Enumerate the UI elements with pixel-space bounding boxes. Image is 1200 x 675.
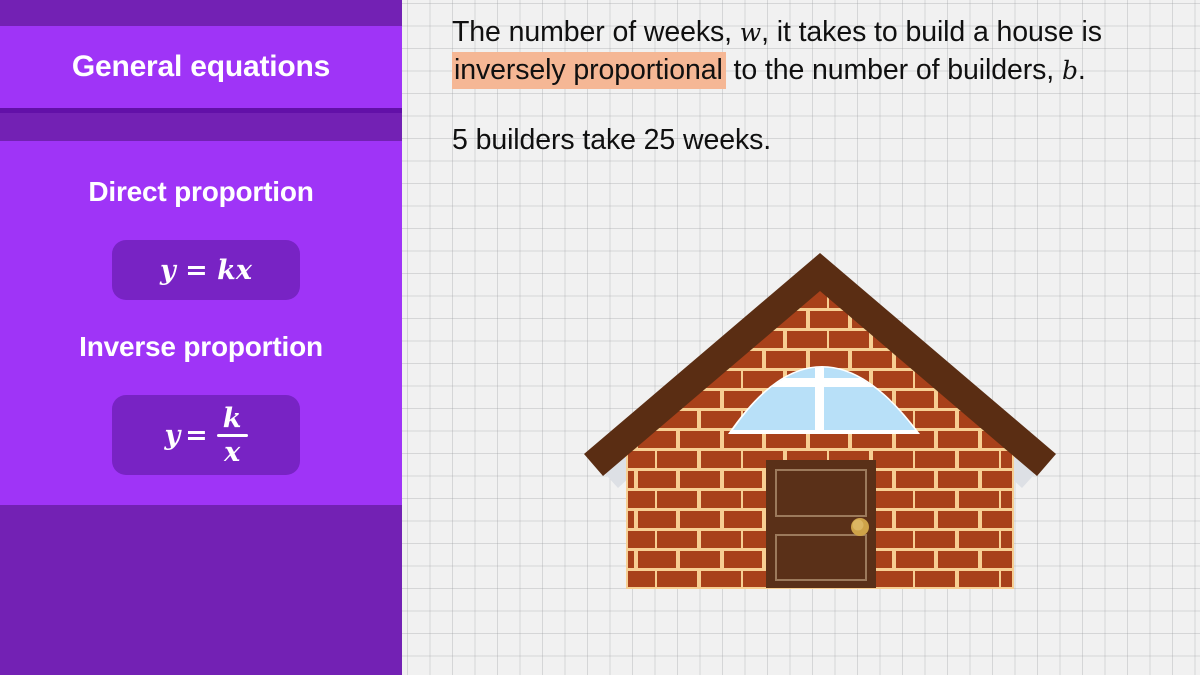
- direct-proportion-equation-text: y = kx: [160, 257, 252, 284]
- sidebar-top-band: [0, 0, 402, 26]
- inverse-eq-fraction: k x: [217, 405, 248, 466]
- problem-line1-pre: The number of weeks,: [452, 16, 740, 48]
- sidebar-bottom-band: [0, 505, 402, 675]
- sidebar-panel: General equations Direct proportion y = …: [0, 0, 402, 675]
- inverse-proportion-equation-text: y = k x: [164, 405, 247, 466]
- front-door: [766, 460, 876, 588]
- given-information: 5 builders take 25 weeks.: [452, 122, 1152, 159]
- inverse-eq-denominator: x: [218, 437, 246, 466]
- inverse-eq-lhs: y: [164, 422, 180, 449]
- door-knob-highlight: [853, 520, 864, 531]
- highlighted-phrase: inversely proportional: [452, 52, 726, 89]
- variable-b: b: [1062, 56, 1078, 85]
- section-label-direct-proportion: Direct proportion: [0, 176, 402, 208]
- inverse-eq-numerator: k: [217, 405, 248, 434]
- brick-house-illustration: [570, 250, 1070, 600]
- sidebar-header: General equations: [0, 26, 402, 108]
- sidebar-divider-line: [0, 108, 402, 113]
- problem-line1-end: .: [1078, 54, 1086, 86]
- problem-line1-mid: , it takes to build a house is: [761, 16, 1102, 48]
- problem-line1-post: to the number of builders,: [726, 54, 1062, 86]
- section-label-inverse-proportion: Inverse proportion: [0, 331, 402, 363]
- problem-statement: The number of weeks, w, it takes to buil…: [452, 14, 1182, 90]
- slide-canvas: General equations Direct proportion y = …: [0, 0, 1200, 675]
- variable-w: w: [740, 18, 761, 47]
- inverse-proportion-equation: y = k x: [112, 395, 300, 475]
- direct-proportion-equation: y = kx: [112, 240, 300, 300]
- inverse-eq-equals: =: [185, 422, 208, 449]
- page-title: General equations: [72, 50, 330, 84]
